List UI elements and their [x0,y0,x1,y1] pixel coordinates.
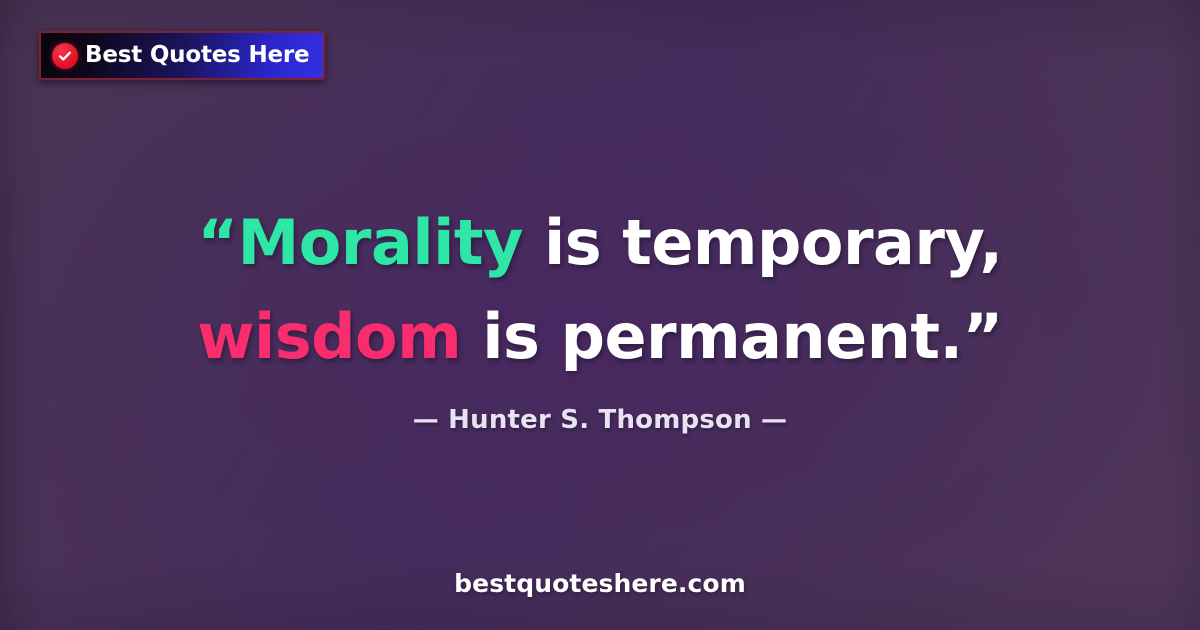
quote-word-wisdom: wisdom [197,300,461,373]
check-circle-icon [52,43,78,69]
quote-word-morality: “Morality [197,206,523,279]
quote-author: — Hunter S. Thompson — [0,407,1200,433]
brand-badge[interactable]: Best Quotes Here [39,31,325,80]
quote-segment-is: is [461,300,539,373]
quote-body: “Morality is temporary, wisdom is perman… [60,196,1140,384]
quote-line-two: permanent.” [561,300,1003,373]
quote-poster: Best Quotes Here “Morality is temporary,… [0,0,1200,630]
brand-badge-label: Best Quotes Here [85,44,309,67]
quote-segment-is-temporary: is temporary, [523,206,1003,279]
site-url: bestquoteshere.com [0,571,1200,596]
poster-content: “Morality is temporary, wisdom is perman… [0,0,1200,630]
